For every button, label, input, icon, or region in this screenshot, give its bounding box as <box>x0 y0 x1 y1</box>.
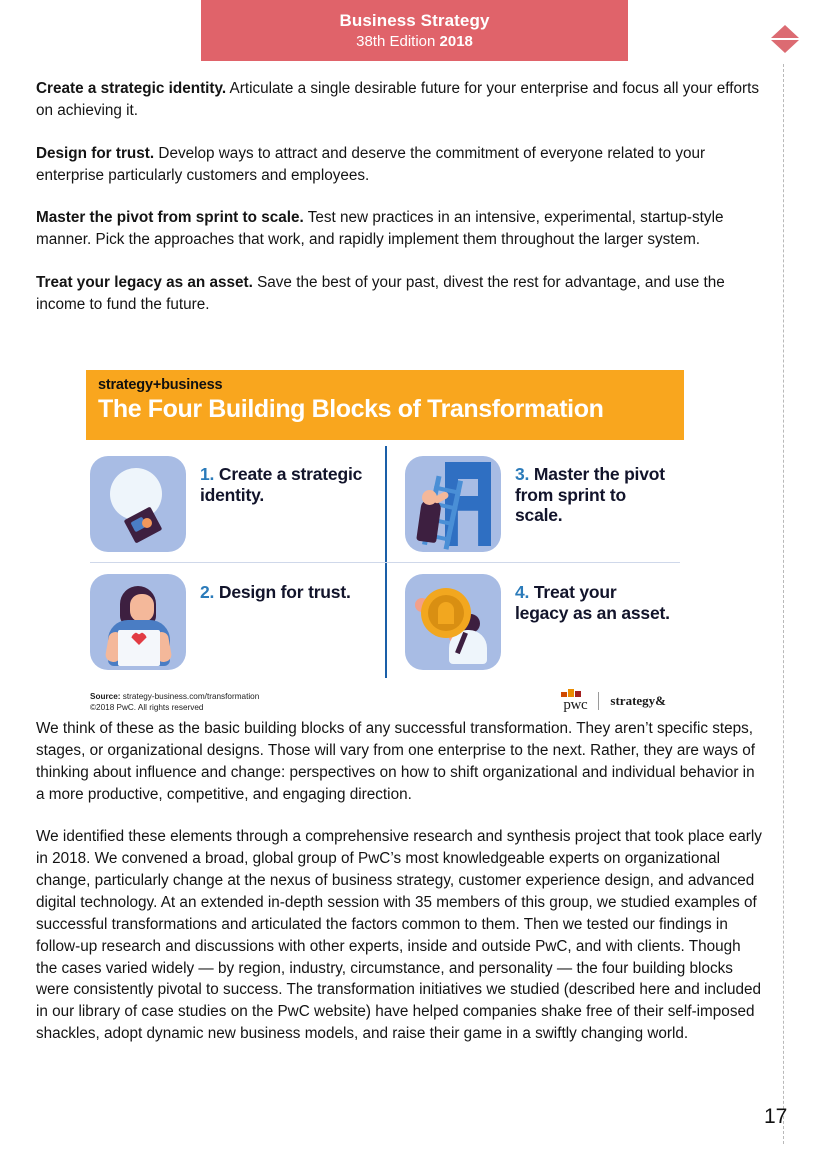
copyright-line: ©2018 PwC. All rights reserved <box>90 703 259 714</box>
principle-lead: Create a strategic identity. <box>36 80 226 97</box>
building-block-4: 4. Treat your legacy as an asset. <box>385 566 684 684</box>
closing-paragraph: We identified these elements through a c… <box>36 826 766 1045</box>
building-block-2: 2. Design for trust. <box>86 566 385 684</box>
pwc-block-orange-dark <box>561 692 567 697</box>
building-block-1-text: 1. Create a strategic identity. <box>200 456 375 505</box>
building-block-2-label: Design for trust. <box>219 582 351 602</box>
building-block-3: 3. Master the pivot from sprint to scale… <box>385 448 684 566</box>
principle-paragraph: Master the pivot from sprint to scale. T… <box>36 207 766 251</box>
building-block-3-label: Master the pivot from sprint to scale. <box>515 464 665 525</box>
infographic-header: strategy+business The Four Building Bloc… <box>86 370 684 440</box>
page-header-banner: Business Strategy 38th Edition 2018 <box>201 0 628 61</box>
principle-lead: Master the pivot from sprint to scale. <box>36 209 304 226</box>
building-block-4-label: Treat your legacy as an asset. <box>515 582 670 623</box>
pwc-block-red <box>575 691 581 697</box>
document-body: Create a strategic identity. Articulate … <box>36 78 766 337</box>
triangle-down-icon[interactable] <box>771 40 799 53</box>
building-block-1-number: 1. <box>200 464 214 484</box>
banner-subtitle: 38th Edition 2018 <box>356 33 473 50</box>
principle-paragraph: Treat your legacy as an asset. Save the … <box>36 272 766 316</box>
banner-year: 2018 <box>440 33 473 50</box>
principle-paragraph: Create a strategic identity. Articulate … <box>36 78 766 122</box>
page-number: 17 <box>764 1105 787 1129</box>
pwc-wordmark: pwc <box>563 697 587 714</box>
infographic-grid: 1. Create a strategic identity. 3. Maste… <box>86 440 684 684</box>
infographic-footer: Source: strategy-business.com/transforma… <box>86 684 684 714</box>
pwc-logo: pwc <box>563 688 587 714</box>
infographic-source: Source: strategy-business.com/transforma… <box>90 692 259 714</box>
right-margin-dashed-rule <box>783 64 784 1144</box>
principle-lead: Design for trust. <box>36 145 154 162</box>
pwc-blocks-icon <box>561 688 585 697</box>
strategyand-wordmark: strategy& <box>610 693 666 709</box>
balloon-envelope-shape <box>110 468 162 520</box>
building-block-3-text: 3. Master the pivot from sprint to scale… <box>515 456 674 526</box>
building-block-2-number: 2. <box>200 582 214 602</box>
sort-control[interactable] <box>770 20 800 58</box>
principle-lead: Treat your legacy as an asset. <box>36 274 253 291</box>
building-block-1: 1. Create a strategic identity. <box>86 448 385 566</box>
ladder-climb-icon <box>405 456 501 552</box>
document-body-closing: We think of these as the basic building … <box>36 718 766 1066</box>
source-label: Source: <box>90 692 120 701</box>
banner-edition: 38th Edition <box>356 33 439 50</box>
hot-air-balloon-icon <box>90 456 186 552</box>
logo-divider <box>598 692 599 710</box>
pwc-block-orange <box>568 689 574 697</box>
grid-horizontal-divider <box>90 562 680 563</box>
principle-paragraph: Design for trust. Develop ways to attrac… <box>36 143 766 187</box>
banner-title: Business Strategy <box>339 11 489 31</box>
source-line: Source: strategy-business.com/transforma… <box>90 692 259 703</box>
gold-coin-icon <box>405 574 501 670</box>
closing-paragraph: We think of these as the basic building … <box>36 718 766 805</box>
balloon-spark-shape <box>142 518 152 528</box>
source-url: strategy-business.com/transformation <box>123 692 260 701</box>
building-block-4-text: 4. Treat your legacy as an asset. <box>515 574 674 623</box>
coin-portrait-shape <box>438 602 454 624</box>
person-reading-icon <box>90 574 186 670</box>
building-block-4-number: 4. <box>515 582 529 602</box>
infographic-kicker: strategy+business <box>98 378 672 394</box>
building-block-3-number: 3. <box>515 464 529 484</box>
infographic-title: The Four Building Blocks of Transformati… <box>98 395 672 423</box>
infographic: strategy+business The Four Building Bloc… <box>86 370 684 714</box>
footer-logos: pwc strategy& <box>563 688 680 714</box>
building-block-2-text: 2. Design for trust. <box>200 574 351 603</box>
triangle-up-icon[interactable] <box>771 25 799 38</box>
building-block-1-label: Create a strategic identity. <box>200 464 362 505</box>
reader-face-shape <box>130 594 154 622</box>
